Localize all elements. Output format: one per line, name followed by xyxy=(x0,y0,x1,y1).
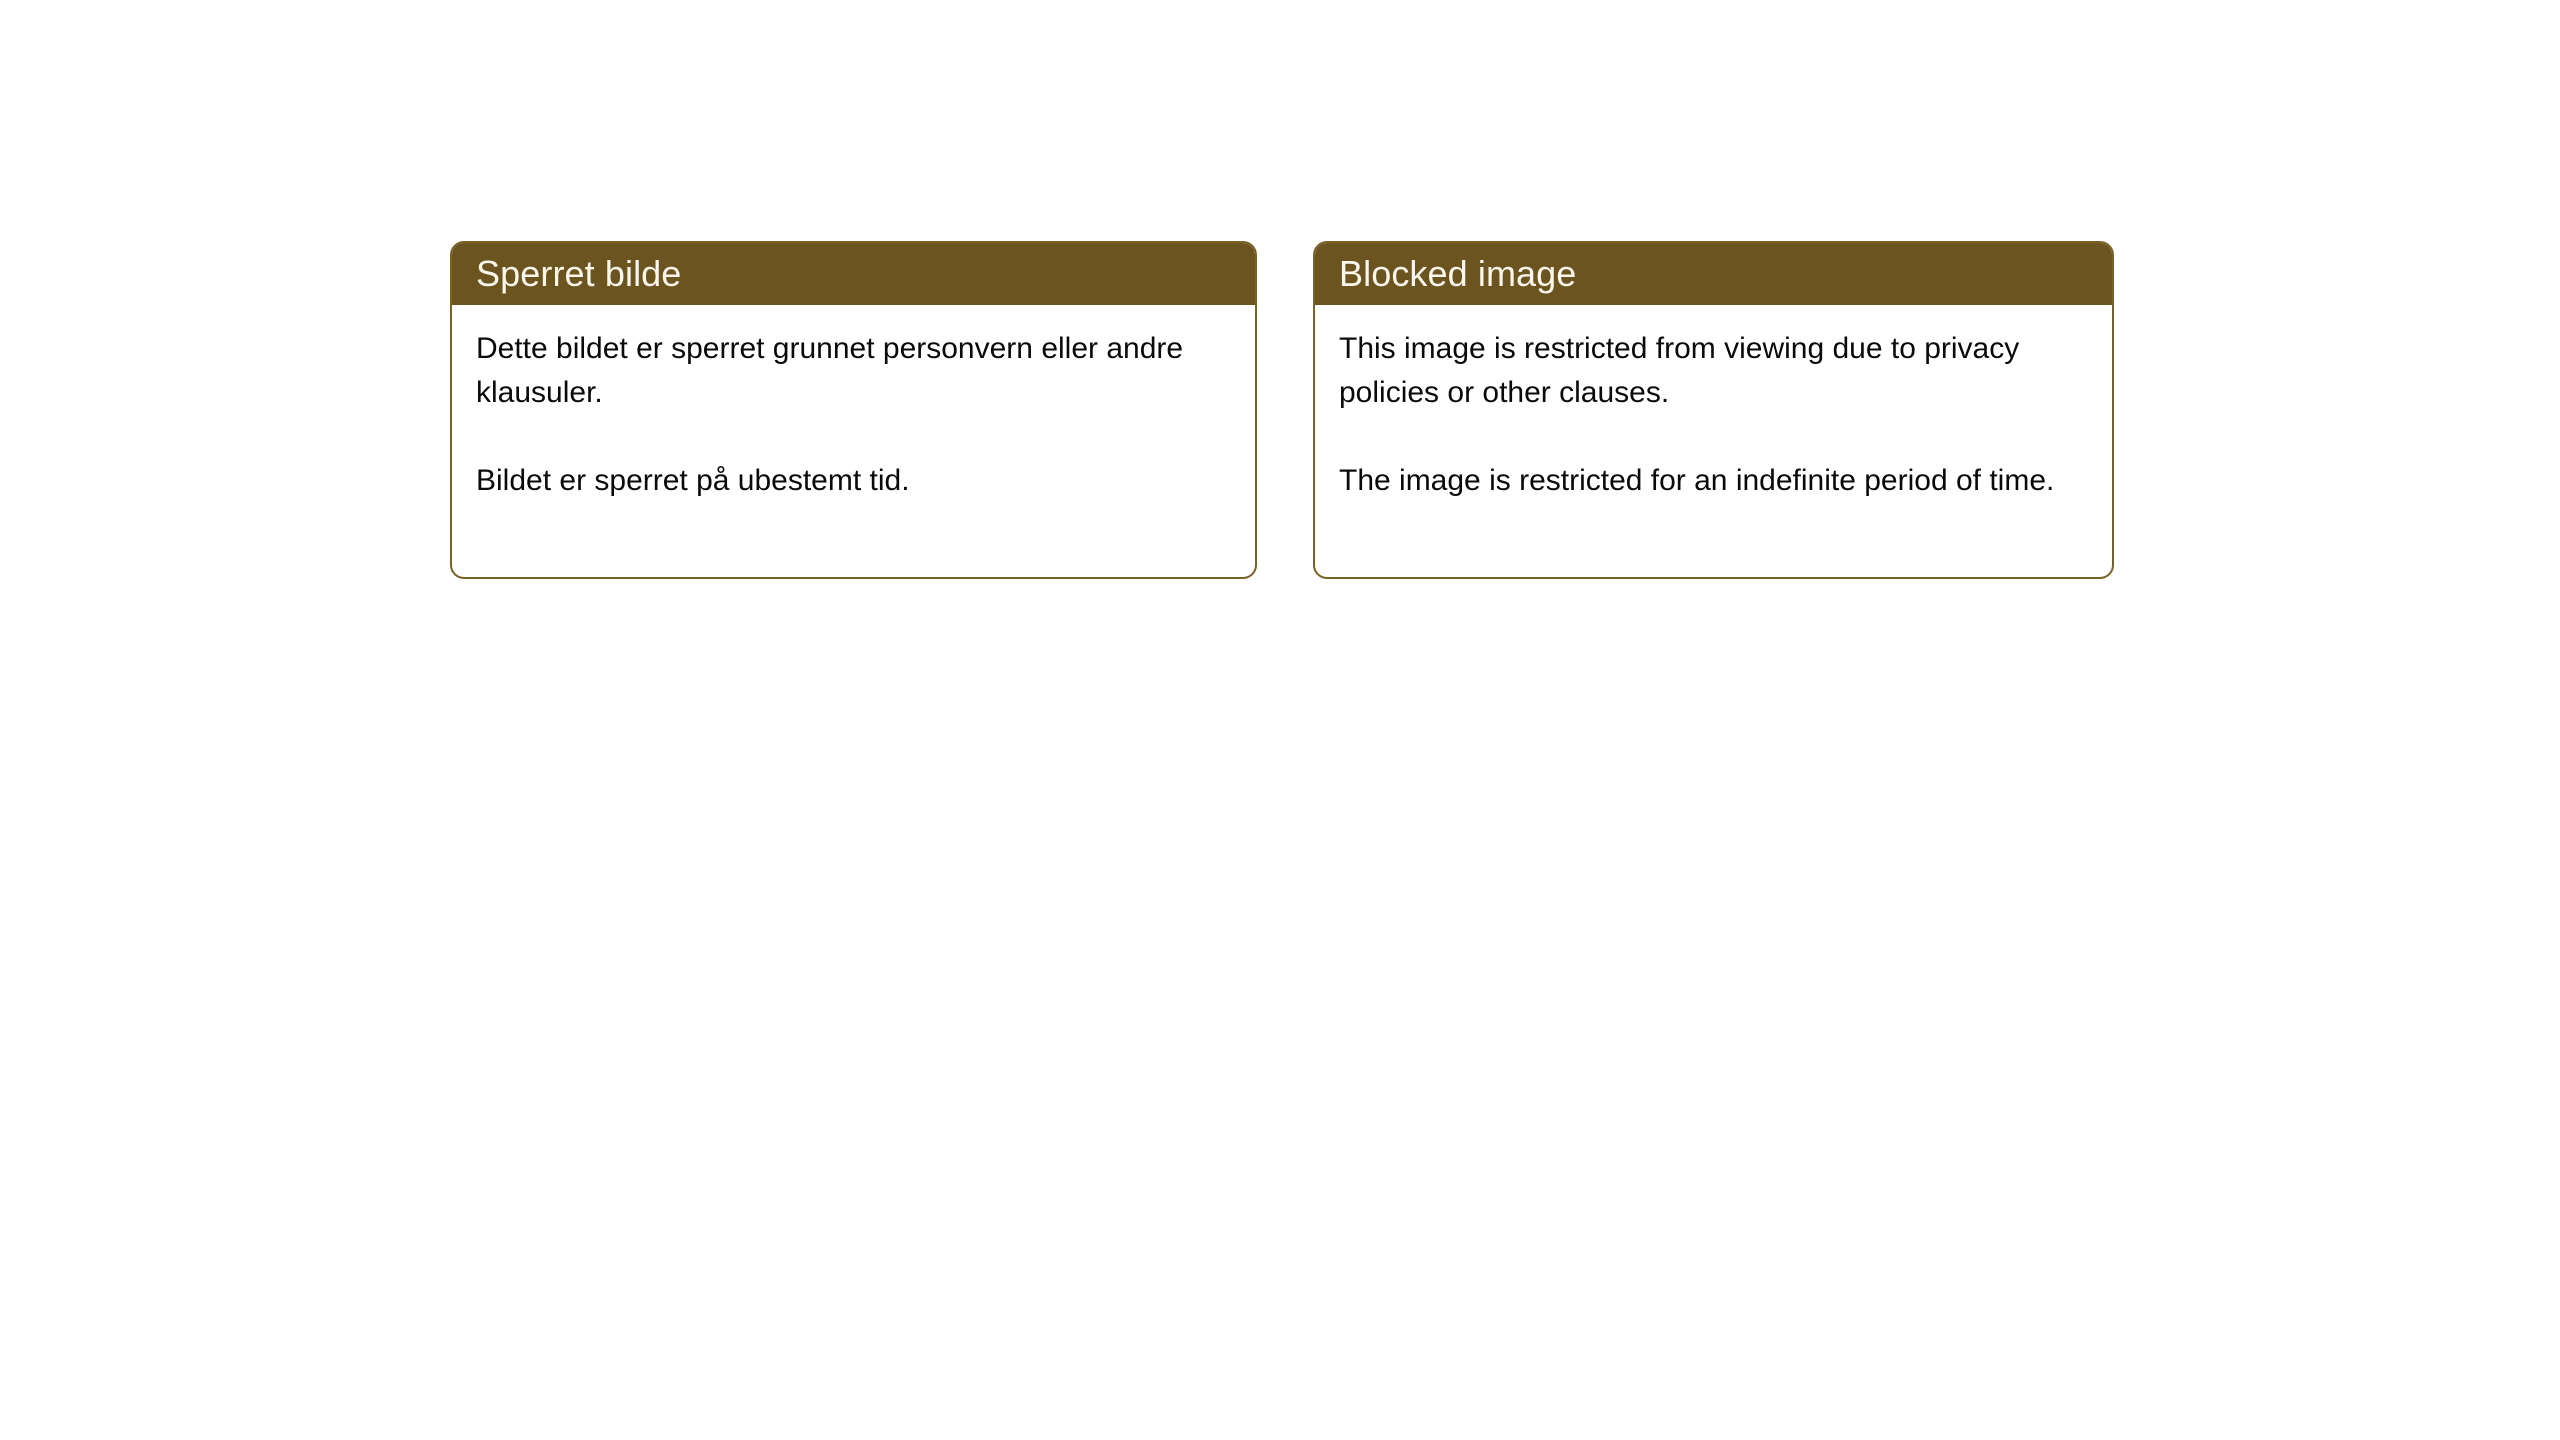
panel-title-no: Sperret bilde xyxy=(476,256,681,292)
blocked-image-notice-no: Sperret bilde Dette bildet er sperret gr… xyxy=(450,241,1257,579)
panel-title-en: Blocked image xyxy=(1339,256,1576,292)
panel-header-no: Sperret bilde xyxy=(452,243,1255,305)
panel-body-en: This image is restricted from viewing du… xyxy=(1315,305,2112,523)
panel-paragraph-reason-en: This image is restricted from viewing du… xyxy=(1339,327,2092,415)
panel-body-no: Dette bildet er sperret grunnet personve… xyxy=(452,305,1255,523)
page-root: Sperret bilde Dette bildet er sperret gr… xyxy=(0,0,2560,1440)
panel-paragraph-reason-no: Dette bildet er sperret grunnet personve… xyxy=(476,327,1235,415)
panel-paragraph-duration-no: Bildet er sperret på ubestemt tid. xyxy=(476,459,1235,503)
blocked-image-notice-en: Blocked image This image is restricted f… xyxy=(1313,241,2114,579)
panel-header-en: Blocked image xyxy=(1315,243,2112,305)
panel-paragraph-duration-en: The image is restricted for an indefinit… xyxy=(1339,459,2092,503)
